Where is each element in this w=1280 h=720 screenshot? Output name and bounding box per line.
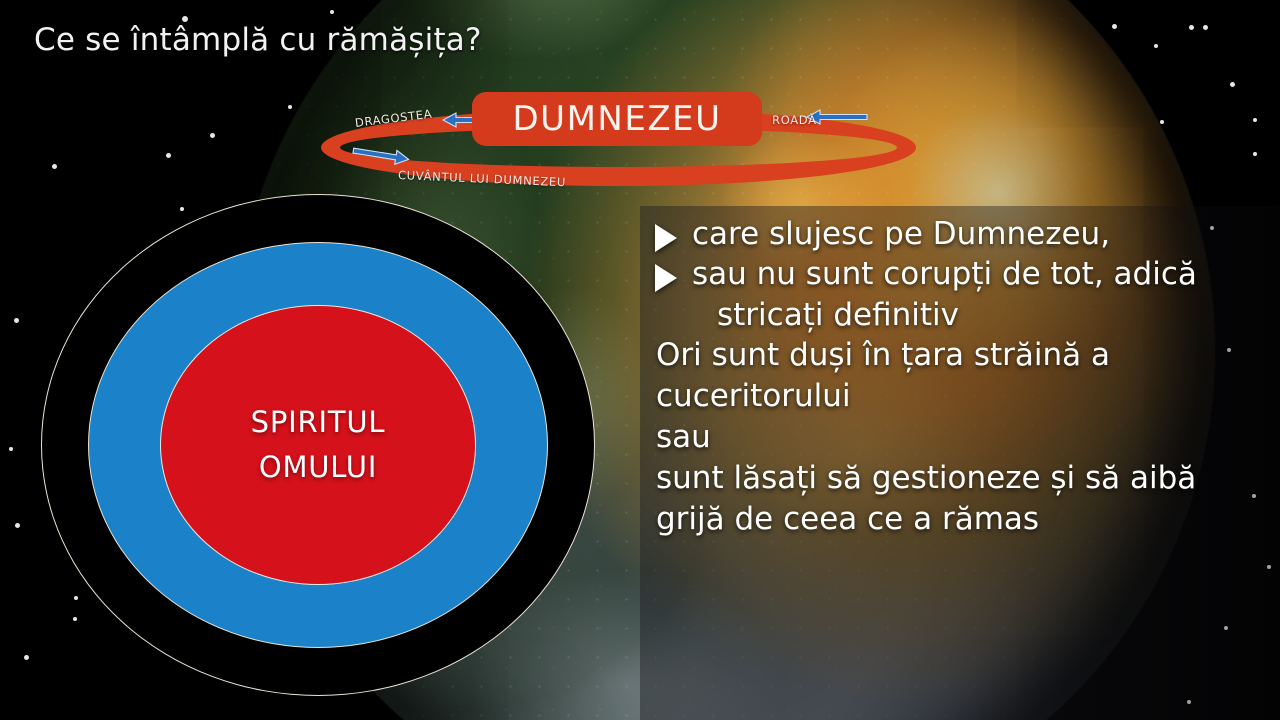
orbit-node-label: DUMNEZEU — [513, 99, 722, 139]
star — [24, 655, 29, 660]
list-item-continuation: stricați definitiv — [650, 295, 1276, 335]
star — [1253, 152, 1257, 156]
star — [15, 523, 20, 528]
star — [1154, 44, 1158, 48]
slide-canvas: Ce se întâmplă cu rămășița? SPIRITUL OMU… — [0, 0, 1280, 720]
star — [1203, 25, 1208, 30]
list-item-label: sau nu sunt corupți de tot, adică — [692, 254, 1197, 294]
star — [1189, 25, 1194, 30]
page-title: Ce se întâmplă cu rămășița? — [34, 22, 482, 58]
paragraph-line: grijă de ceea ce a rămas — [650, 499, 1276, 540]
center-label-line2: OMULUI — [259, 445, 377, 490]
paragraph-line: sau — [650, 417, 1276, 458]
paragraph-line: sunt lăsați să gestioneze și să aibă — [650, 458, 1276, 499]
list-item-label: care slujesc pe Dumnezeu, — [692, 214, 1110, 254]
star — [1230, 82, 1235, 87]
paragraph-line: Ori sunt duși în țara străină a — [650, 335, 1276, 376]
concentric-circles-diagram: SPIRITUL OMULUI — [41, 194, 595, 696]
star — [1112, 24, 1117, 29]
list-item: sau nu sunt corupți de tot, adică — [650, 254, 1276, 294]
content-panel: care slujesc pe Dumnezeu, sau nu sunt co… — [640, 206, 1280, 720]
star — [9, 447, 13, 451]
star — [14, 318, 19, 323]
paragraph-line: cuceritorului — [650, 376, 1276, 417]
orbit-node-dumnezeu: DUMNEZEU — [472, 92, 762, 146]
star — [210, 133, 215, 138]
inner-circle: SPIRITUL OMULUI — [160, 305, 476, 585]
star — [330, 10, 334, 14]
triangle-bullet-icon — [655, 264, 677, 292]
triangle-bullet-icon — [655, 224, 677, 252]
flow-label-roada: ROADĂ — [772, 113, 817, 127]
center-label-line1: SPIRITUL — [251, 400, 386, 445]
star — [1253, 118, 1257, 122]
star — [52, 164, 57, 169]
star — [166, 153, 171, 158]
list-item: care slujesc pe Dumnezeu, — [650, 214, 1276, 254]
